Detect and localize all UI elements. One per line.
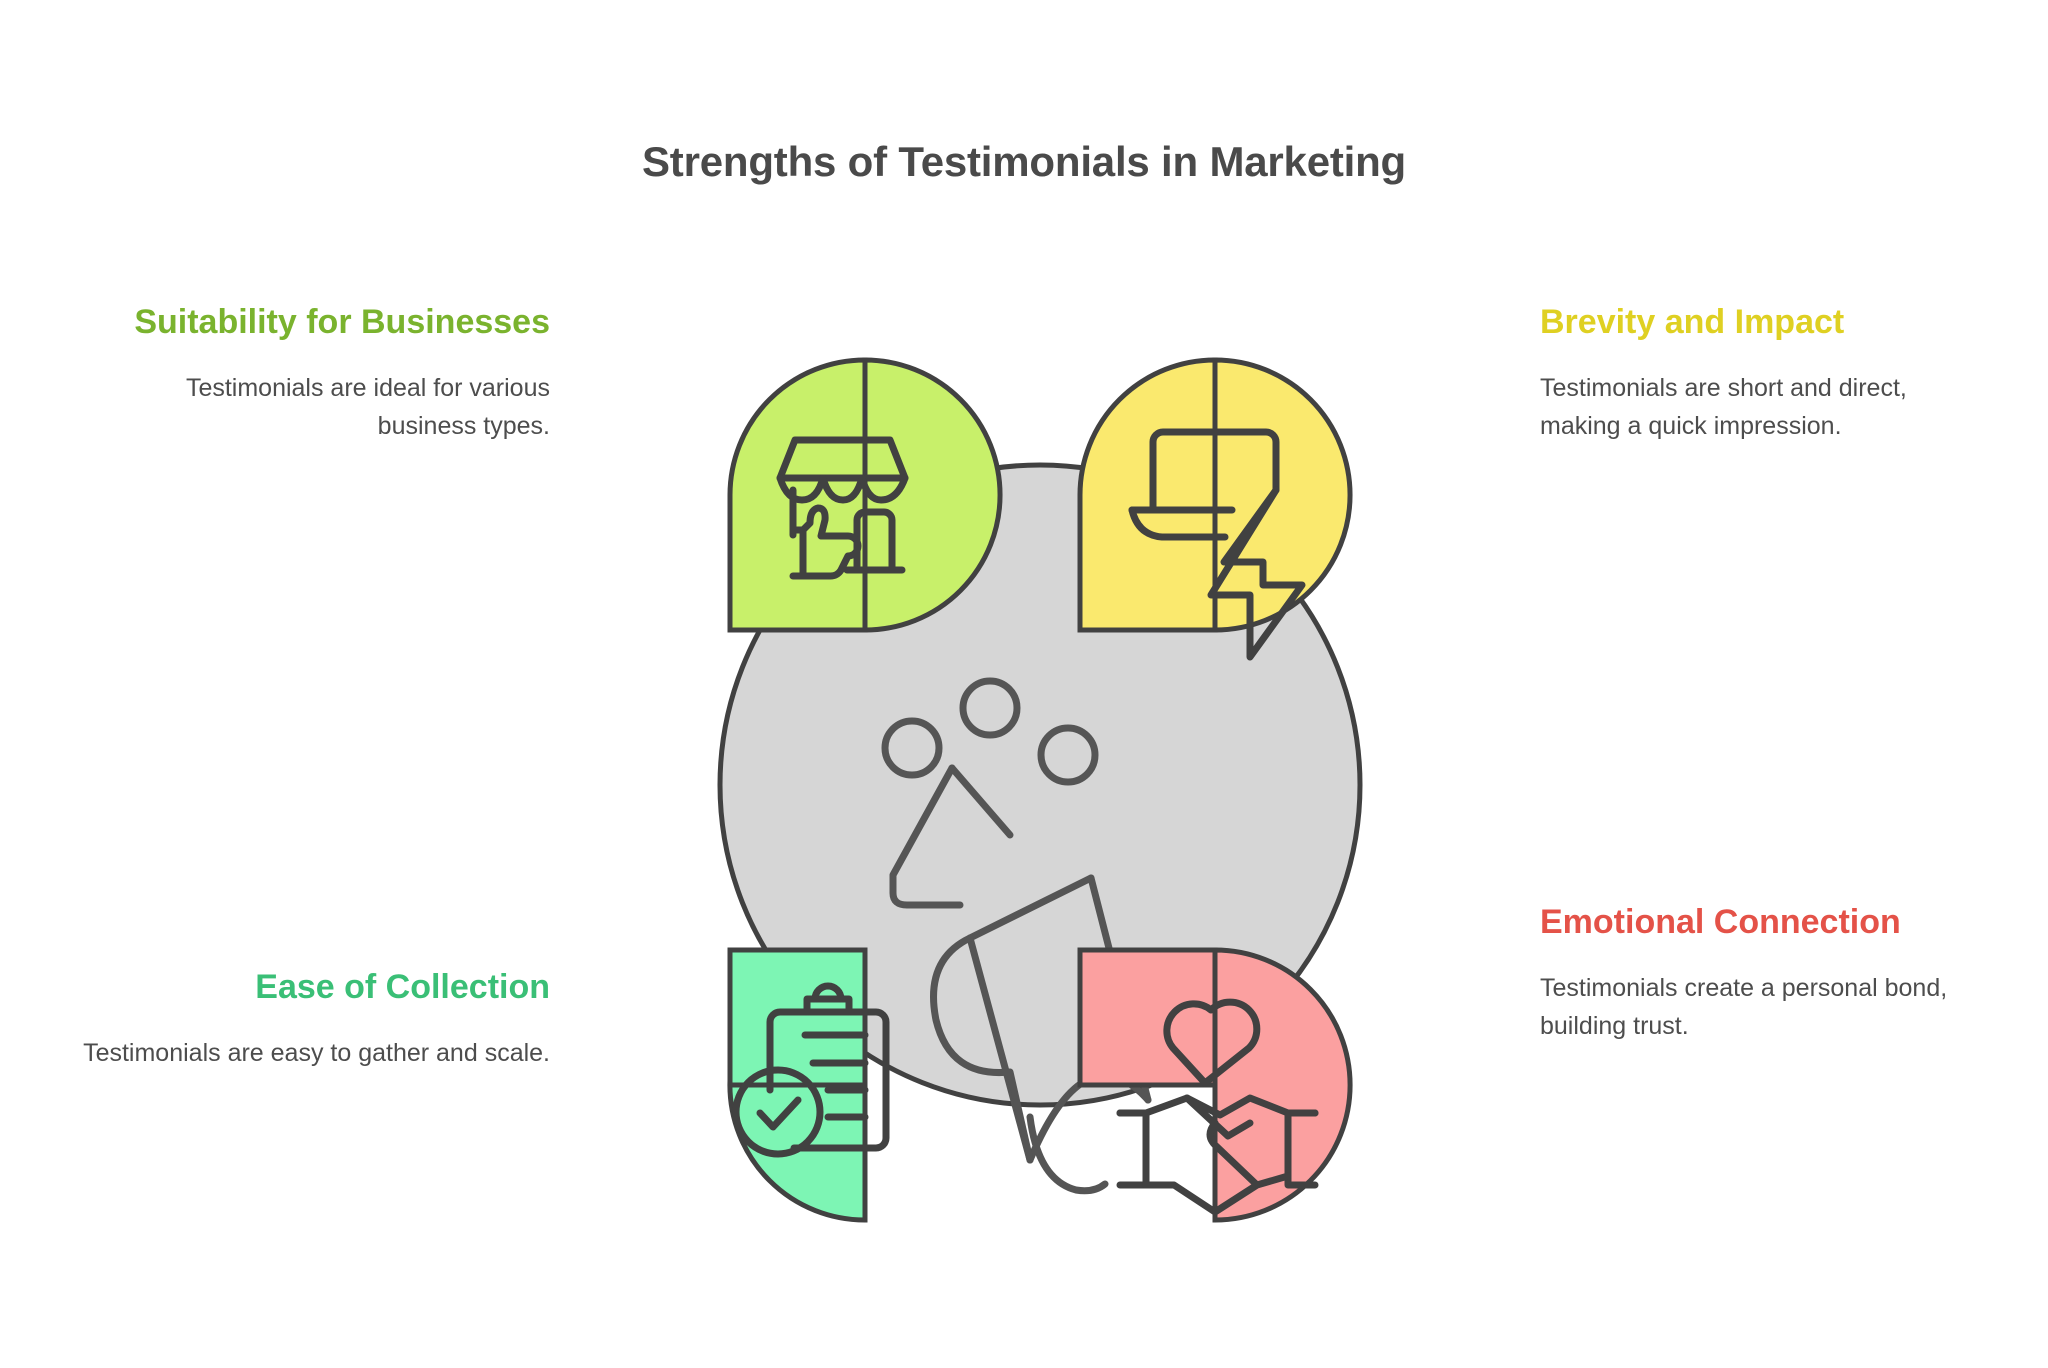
quadrant-heading-brevity-and-impact: Brevity and Impact — [1540, 300, 1970, 345]
quadrant-heading-emotional-connection: Emotional Connection — [1540, 900, 1970, 945]
quadrant-heading-ease-of-collection: Ease of Collection — [70, 965, 550, 1010]
quadrant-text-top-right: Brevity and Impact Testimonials are shor… — [1540, 300, 1970, 445]
infographic-canvas: Strengths of Testimonials in Marketing S… — [0, 0, 2048, 1368]
badge-bottom-right[interactable] — [1080, 950, 1350, 1220]
quadrant-body-emotional-connection: Testimonials create a personal bond, bui… — [1540, 969, 1970, 1045]
quadrant-body-brevity-and-impact: Testimonials are short and direct, makin… — [1540, 369, 1970, 445]
quadrant-text-bottom-left: Ease of Collection Testimonials are easy… — [70, 965, 550, 1072]
badge-bottom-left[interactable] — [730, 950, 886, 1220]
page-title: Strengths of Testimonials in Marketing — [0, 138, 2048, 186]
quadrant-heading-suitability-for-businesses: Suitability for Businesses — [120, 300, 550, 345]
quadrant-body-ease-of-collection: Testimonials are easy to gather and scal… — [70, 1034, 550, 1072]
quadrant-text-bottom-right: Emotional Connection Testimonials create… — [1540, 900, 1970, 1045]
badge-top-left[interactable] — [730, 360, 1000, 630]
quadrant-diagram — [560, 330, 1520, 1250]
quadrant-body-suitability-for-businesses: Testimonials are ideal for various busin… — [120, 369, 550, 445]
quadrant-text-top-left: Suitability for Businesses Testimonials … — [120, 300, 550, 445]
